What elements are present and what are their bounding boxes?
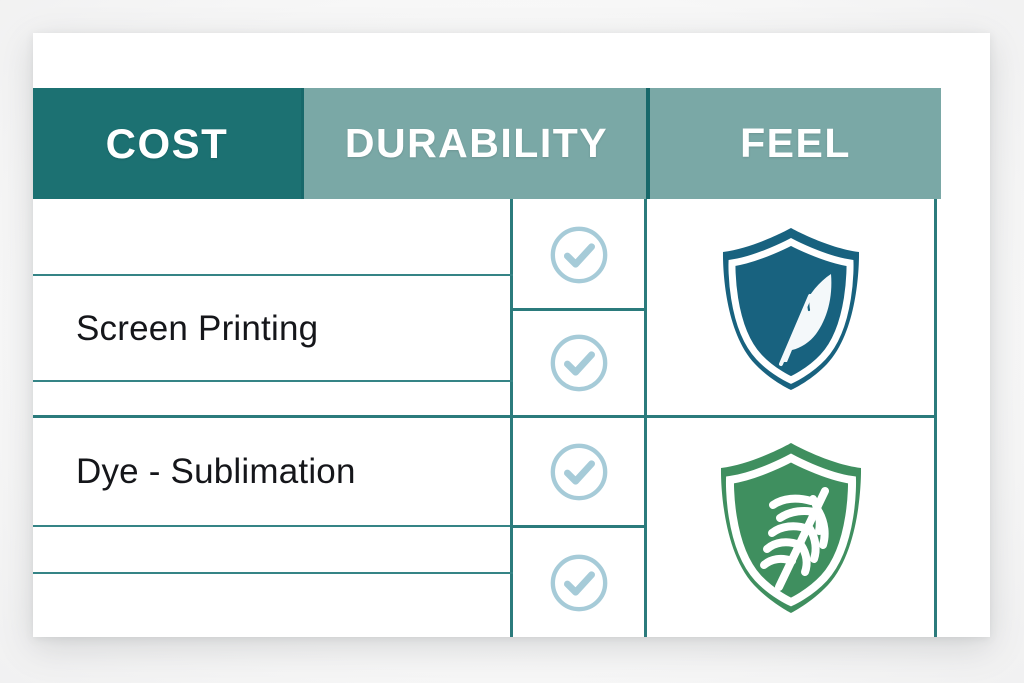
- screenshot-canvas: COST DURABILITY FEEL: [0, 0, 1024, 683]
- grid-hline-5: [33, 525, 513, 527]
- shield-leaf-icon: [715, 439, 867, 617]
- grid-hline-1: [33, 274, 513, 276]
- comparison-table-card: COST DURABILITY FEEL: [33, 33, 990, 637]
- grid-hline-2: [33, 380, 513, 382]
- cell-feel-screen-printing[interactable]: [647, 202, 934, 415]
- row-label-text: Dye - Sublimation: [76, 452, 356, 492]
- cell-durability-screen-printing[interactable]: [513, 311, 644, 415]
- check-circle-icon: [548, 441, 610, 503]
- check-circle-icon: [548, 332, 610, 394]
- table-row-label-screen-printing: Screen Printing: [33, 277, 510, 380]
- cell-durability-dye-sublimation[interactable]: [513, 418, 644, 525]
- header-label-cost: COST: [33, 88, 301, 199]
- check-circle-icon: [548, 224, 610, 286]
- grid-hline-6: [33, 572, 513, 574]
- cell-feel-dye-sublimation[interactable]: [647, 418, 934, 637]
- row-label-text: Screen Printing: [76, 309, 318, 349]
- table-row-label-dye-sublimation: Dye - Sublimation: [33, 418, 510, 525]
- grid-vline-feel-right: [934, 199, 937, 637]
- cell-check-top[interactable]: [513, 202, 644, 308]
- table-header-durability[interactable]: DURABILITY: [301, 88, 649, 199]
- header-label-durability: DURABILITY: [304, 88, 649, 199]
- cell-check-bottom[interactable]: [513, 528, 644, 637]
- comparison-table: COST DURABILITY FEEL: [33, 33, 990, 637]
- header-label-feel: FEEL: [650, 88, 941, 199]
- table-header-feel[interactable]: FEEL: [646, 88, 941, 199]
- check-circle-icon: [548, 552, 610, 614]
- shield-feather-icon: [717, 224, 865, 394]
- table-header-cost[interactable]: COST: [33, 88, 301, 199]
